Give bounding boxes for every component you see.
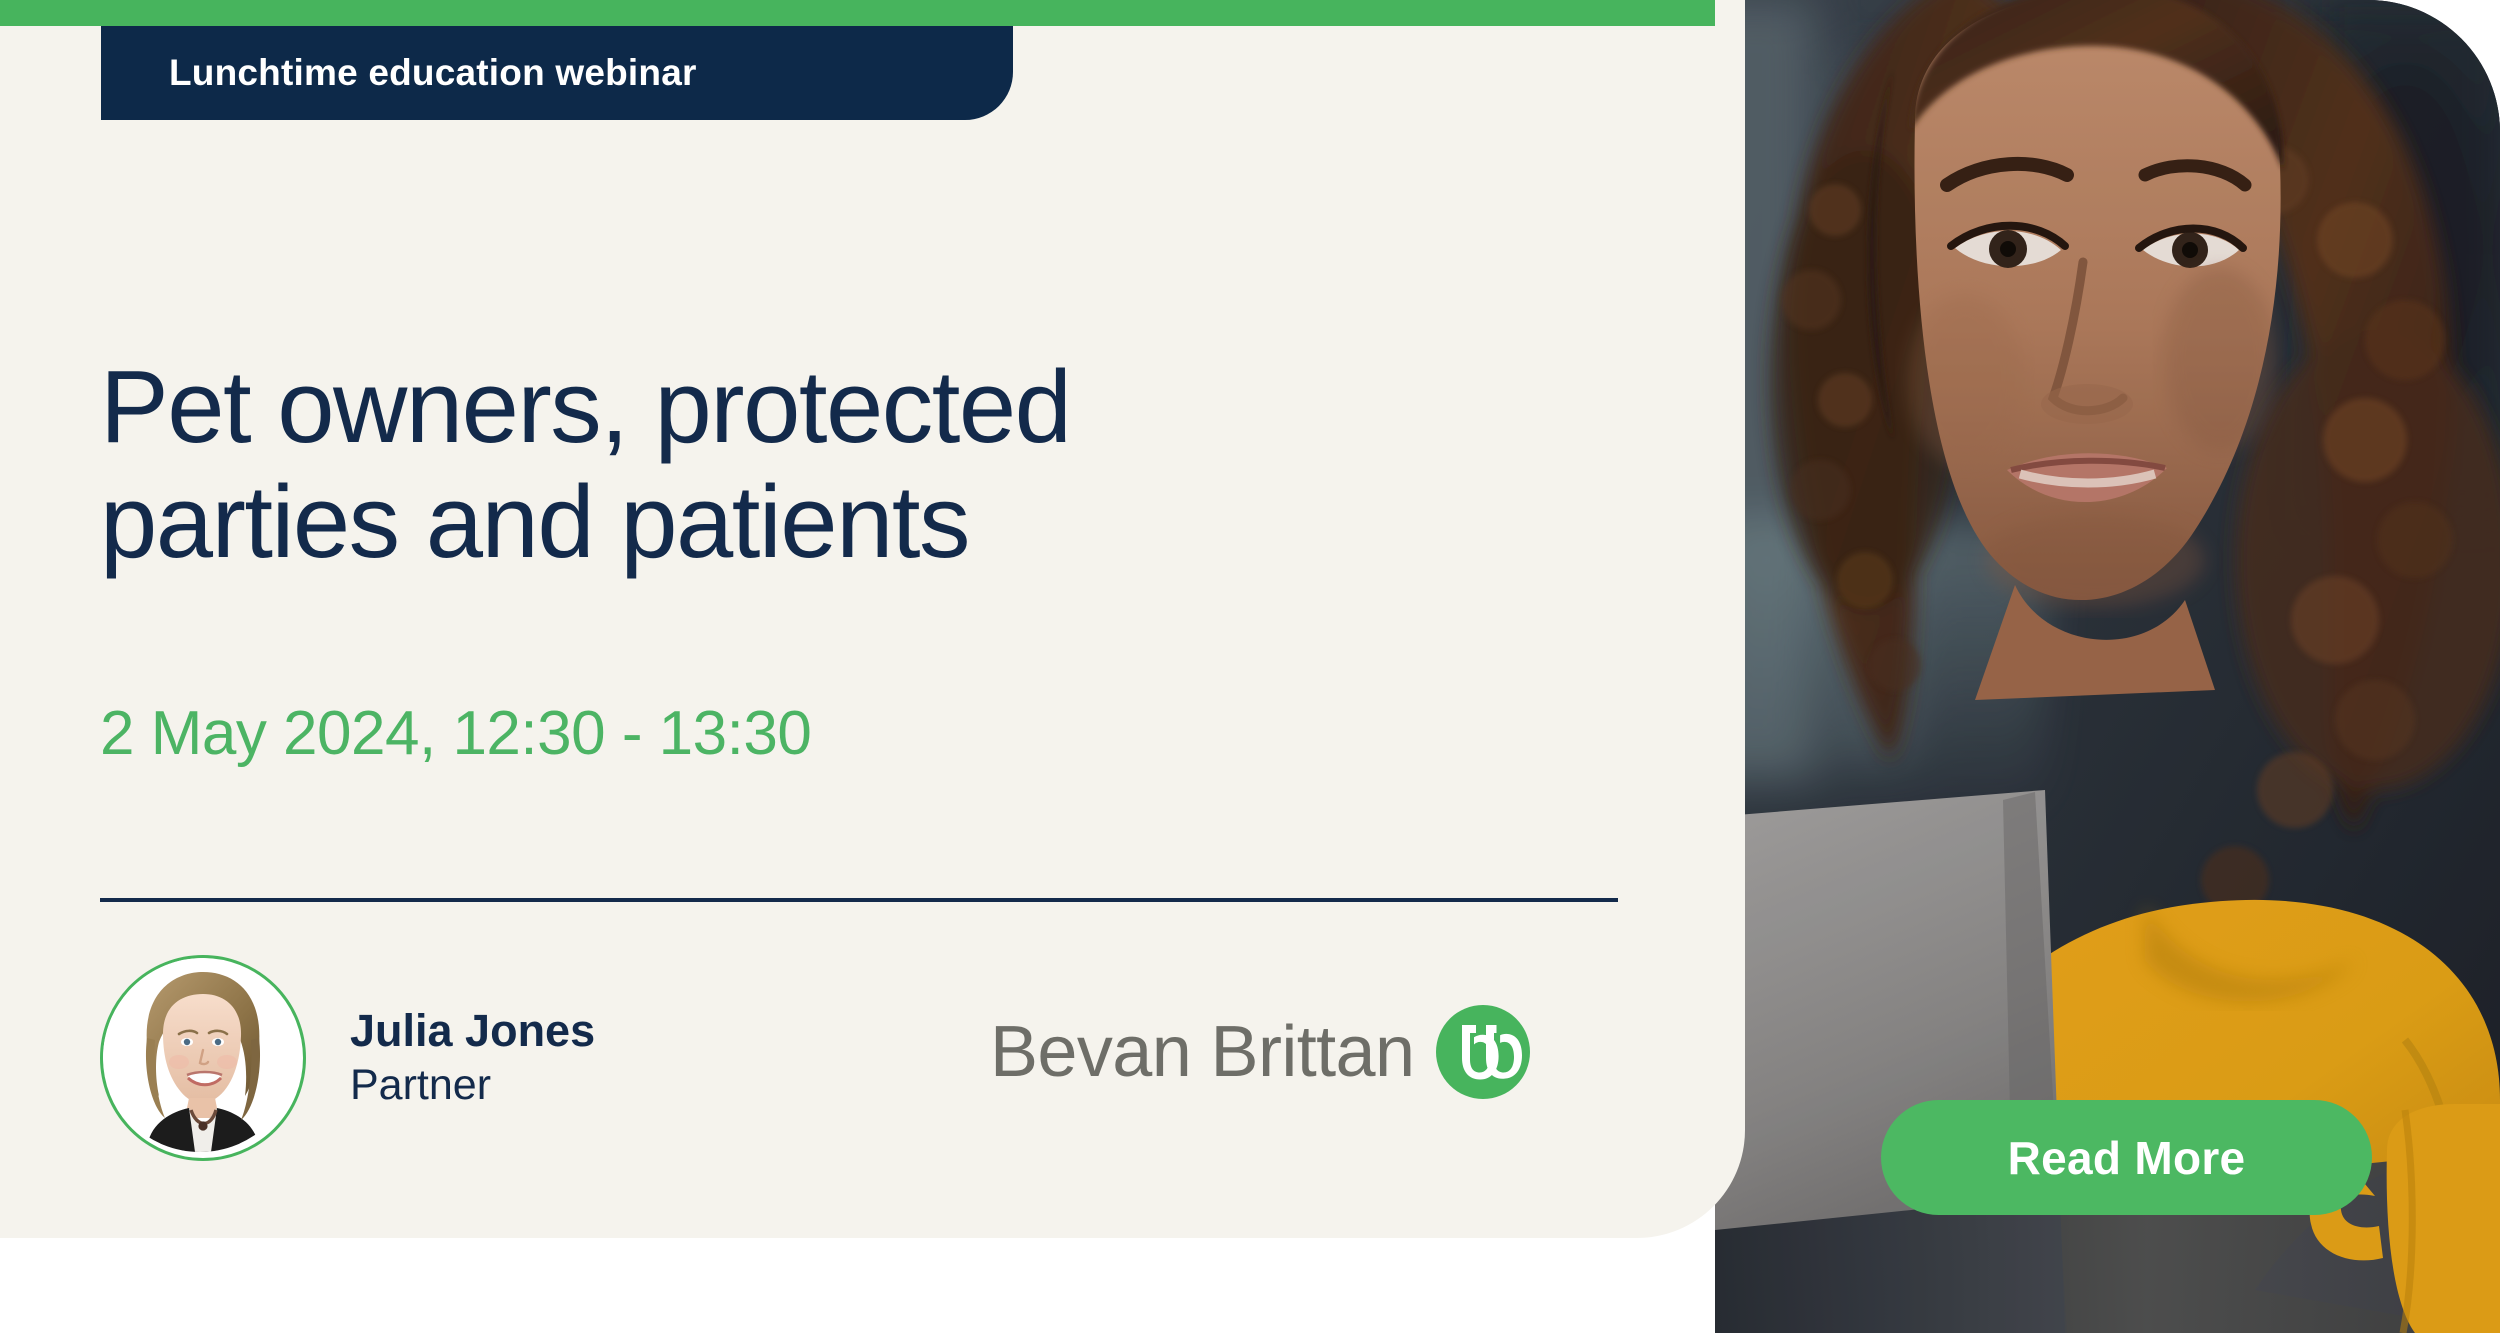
headline-line-1: Pet owners, protected — [100, 349, 1070, 464]
bevan-brittan-bb-icon — [1436, 1005, 1530, 1099]
brand-name: Bevan Brittan — [990, 1011, 1414, 1093]
headline-line-2: parties and patients — [100, 464, 1560, 579]
speaker-block: Julia Jones Partner — [100, 955, 595, 1161]
event-datetime: 2 May 2024, 12:30 - 13:30 — [100, 698, 811, 769]
divider — [100, 898, 1618, 902]
page-title: Pet owners, protected parties and patien… — [100, 349, 1560, 580]
speaker-role: Partner — [350, 1059, 595, 1113]
speaker-name: Julia Jones — [350, 1003, 595, 1059]
webinar-promo-banner: Lunchtime education webinar Pet owners, … — [0, 0, 2500, 1333]
read-more-button[interactable]: Read More — [1881, 1100, 2372, 1215]
badge-label: Lunchtime education webinar — [169, 52, 697, 94]
content-card: Lunchtime education webinar Pet owners, … — [0, 0, 1745, 1238]
green-top-bar — [0, 0, 1715, 26]
webinar-type-badge: Lunchtime education webinar — [101, 26, 1013, 120]
brand-logo: Bevan Brittan — [990, 1005, 1530, 1099]
avatar — [100, 955, 306, 1161]
speaker-details: Julia Jones Partner — [350, 1003, 595, 1113]
